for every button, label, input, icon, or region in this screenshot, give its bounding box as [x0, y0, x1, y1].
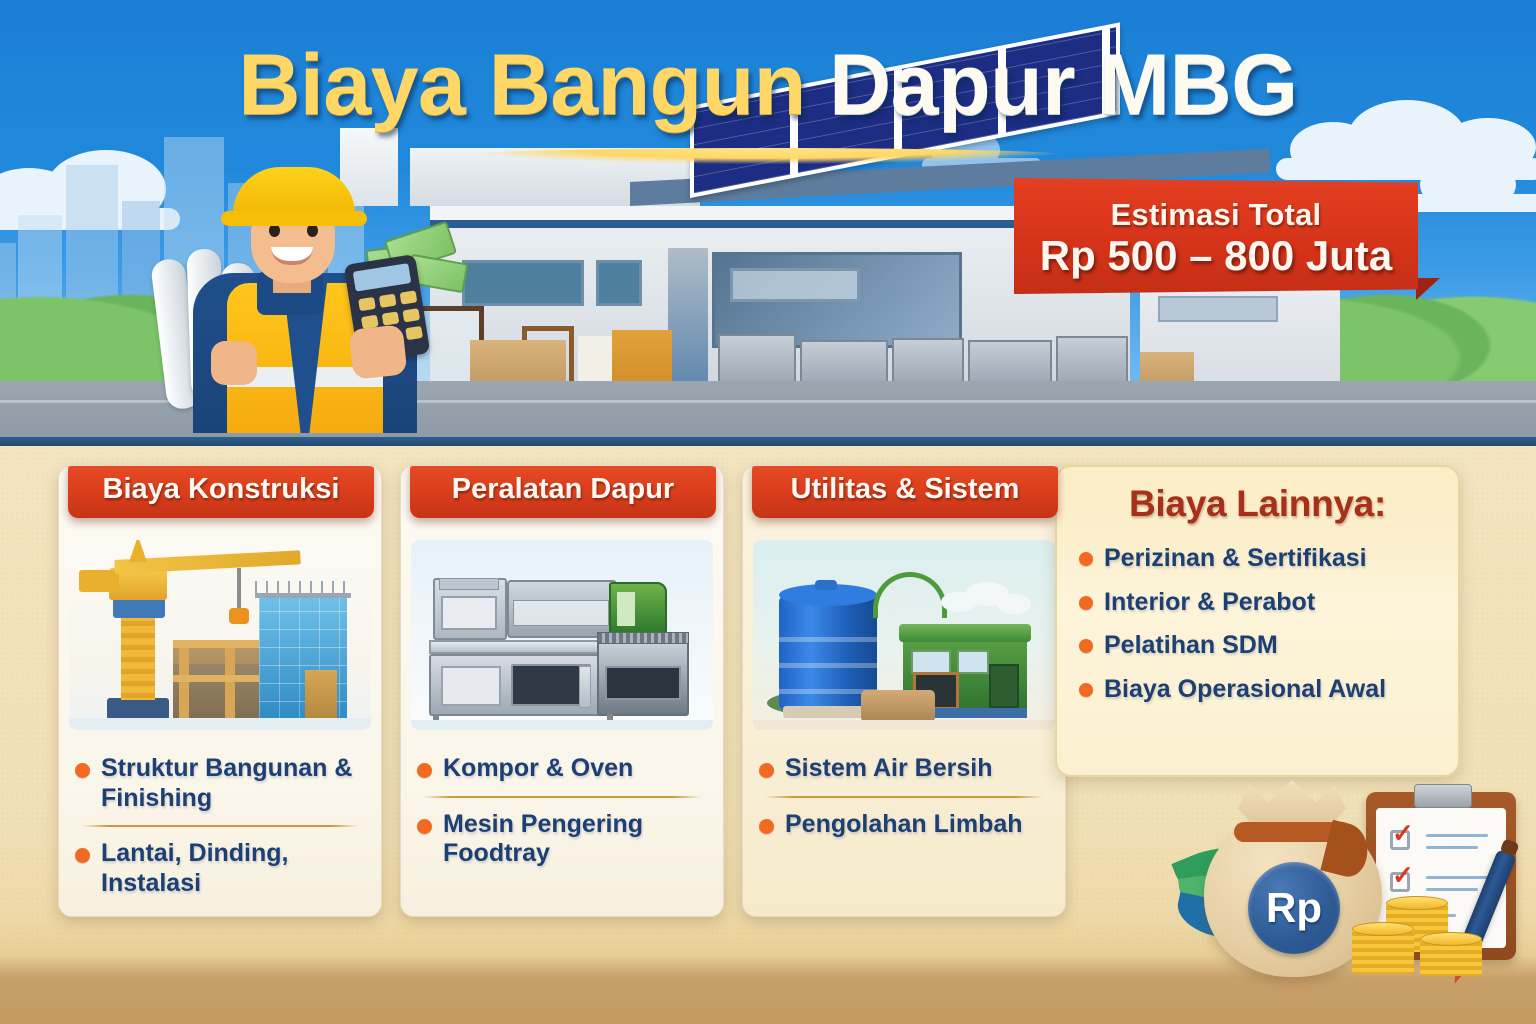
list-item: Pengolahan Limbah [759, 802, 1049, 848]
cost-cards: Biaya Konstruksi [58, 465, 1066, 917]
list-separator [81, 825, 359, 827]
list-item: Perizinan & Sertifikasi [1079, 537, 1436, 581]
hero-banner: Biaya Bangun Dapur MBG Estimasi Total Rp… [0, 0, 1536, 443]
card-header-2: Peralatan Dapur [410, 465, 716, 518]
hero-divider [0, 437, 1536, 446]
gold-coins-icon [1358, 902, 1498, 980]
estimasi-total-badge: Estimasi Total Rp 500 – 800 Juta [1014, 178, 1418, 294]
construction-crane-illustration [69, 540, 371, 730]
panel-biaya-lainnya[interactable]: Biaya Lainnya: Perizinan & Sertifikasi I… [1055, 465, 1460, 777]
list-item: Interior & Perabot [1079, 581, 1436, 625]
list-item: Kompor & Oven [417, 746, 707, 792]
bullet-dot-icon [75, 848, 90, 863]
card-3-list: Sistem Air Bersih Pengolahan Limbah [743, 730, 1065, 847]
bullet-dot-icon [75, 763, 90, 778]
list-item: Biaya Operasional Awal [1079, 668, 1436, 712]
rupiah-badge: Rp [1248, 862, 1340, 954]
card-biaya-konstruksi[interactable]: Biaya Konstruksi [58, 465, 382, 917]
card-header-1: Biaya Konstruksi [68, 465, 374, 518]
card-2-list: Kompor & Oven Mesin Pengering Foodtray [401, 730, 723, 877]
title-swoosh [458, 148, 1078, 164]
bullet-dot-icon [1079, 552, 1093, 566]
water-tank-utility-illustration [753, 540, 1055, 730]
list-separator [423, 796, 701, 798]
rupiah-symbol: Rp [1266, 884, 1322, 932]
bullet-dot-icon [1079, 596, 1093, 610]
card-1-list: Struktur Bangunan & Finishing Lantai, Di… [59, 730, 381, 906]
page-title: Biaya Bangun Dapur MBG [0, 36, 1536, 135]
list-separator [765, 796, 1043, 798]
title-part-1: Biaya Bangun [238, 37, 829, 133]
bullet-dot-icon [759, 819, 774, 834]
title-part-2: Dapur MBG [829, 37, 1298, 133]
list-item: Pelatihan SDM [1079, 624, 1436, 668]
bullet-dot-icon [1079, 683, 1093, 697]
list-item: Mesin Pengering Foodtray [417, 802, 707, 877]
card-header-3-label: Utilitas & Sistem [791, 473, 1020, 506]
bullet-dot-icon [1079, 639, 1093, 653]
bullet-dot-icon [417, 763, 432, 778]
panel-title: Biaya Lainnya: [1079, 483, 1436, 525]
bullet-dot-icon [417, 819, 432, 834]
badge-line-2: Rp 500 – 800 Juta [1040, 233, 1393, 278]
bullet-dot-icon [759, 763, 774, 778]
card-utilitas-sistem[interactable]: Utilitas & Sistem [742, 465, 1066, 917]
list-item: Sistem Air Bersih [759, 746, 1049, 792]
list-item: Struktur Bangunan & Finishing [75, 746, 365, 821]
card-header-2-label: Peralatan Dapur [452, 473, 674, 506]
card-peralatan-dapur[interactable]: Peralatan Dapur [400, 465, 724, 917]
card-header-3: Utilitas & Sistem [752, 465, 1058, 518]
kitchen-equipment-illustration [411, 540, 713, 730]
construction-worker [155, 133, 455, 433]
money-bag-clipboard-illustration: ✓ ✓ Rp [1176, 770, 1536, 1000]
card-header-1-label: Biaya Konstruksi [103, 473, 340, 506]
list-item: Lantai, Dinding, Instalasi [75, 831, 365, 906]
badge-line-1: Estimasi Total [1111, 197, 1322, 233]
infographic-poster: Biaya Bangun Dapur MBG Estimasi Total Rp… [0, 0, 1536, 1024]
